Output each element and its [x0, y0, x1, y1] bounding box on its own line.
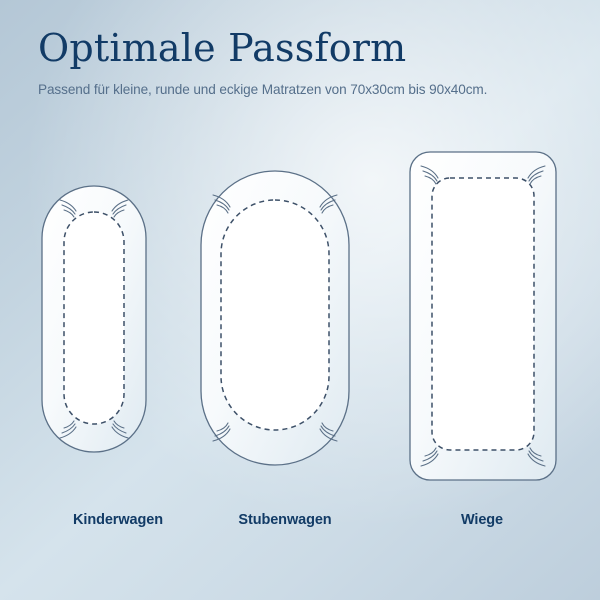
product-shape-row	[0, 0, 600, 600]
kinderwagen-svg	[0, 0, 600, 600]
product-label-wiege: Wiege	[392, 512, 572, 528]
product-diagram-kinderwagen	[0, 0, 600, 600]
product-label-kinderwagen: Kinderwagen	[28, 512, 208, 528]
product-label-stubenwagen: Stubenwagen	[195, 512, 375, 528]
kinderwagen-mattress-area	[64, 212, 124, 424]
wiege-mattress-area	[432, 178, 534, 450]
infographic-canvas: Optimale Passform Passend für kleine, ru…	[0, 0, 600, 600]
stubenwagen-mattress-area	[221, 200, 329, 430]
